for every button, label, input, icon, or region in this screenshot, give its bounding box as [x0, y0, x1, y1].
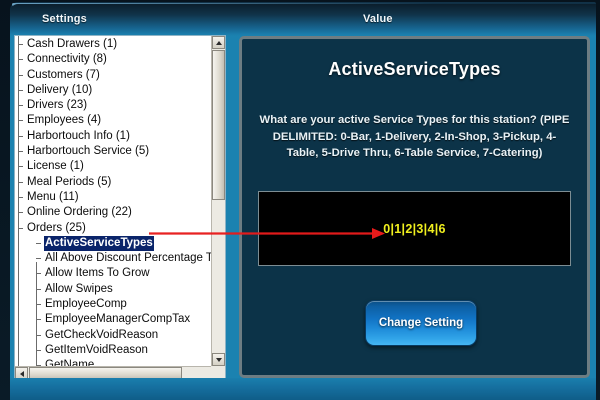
- tree-item[interactable]: Orders (25): [15, 221, 211, 236]
- tree-item-label: GetName: [44, 358, 95, 366]
- tree-connector-icon: [18, 105, 23, 106]
- tree-item-label: EmployeeManagerCompTax: [44, 312, 191, 327]
- tree-item-label: GetItemVoidReason: [44, 343, 149, 358]
- tree-item-label: Employees (4): [26, 113, 102, 128]
- scroll-down-button[interactable]: [212, 353, 225, 366]
- tree-item-label: Customers (7): [26, 68, 101, 83]
- tree-item[interactable]: Menu (11): [15, 190, 211, 205]
- tree-connector-icon: [18, 228, 23, 229]
- tree-item[interactable]: EmployeeManagerCompTax: [15, 312, 211, 327]
- tree-connector-icon: [18, 212, 23, 213]
- tree-item[interactable]: Harbortouch Info (1): [15, 129, 211, 144]
- tree-item-label: Meal Periods (5): [26, 175, 112, 190]
- tree-connector-icon: [36, 319, 41, 320]
- tree-connector-icon: [18, 136, 23, 137]
- tree-connector-icon: [18, 59, 23, 60]
- tree-item[interactable]: Connectivity (8): [15, 52, 211, 67]
- tree-item[interactable]: Drivers (23): [15, 98, 211, 113]
- tree-connector-icon: [36, 258, 41, 259]
- tree-item[interactable]: GetName: [15, 358, 211, 366]
- settings-column-header: Settings: [42, 13, 87, 25]
- tree-connector-icon: [36, 350, 41, 351]
- tree-item[interactable]: Customers (7): [15, 68, 211, 83]
- tree-vertical-scrollbar[interactable]: [211, 36, 225, 366]
- setting-value-display: 0|1|2|3|4|6: [258, 191, 571, 266]
- tree-item-label: Drivers (23): [26, 98, 88, 113]
- vertical-scrollbar-thumb[interactable]: [212, 50, 225, 200]
- setting-description: What are your active Service Types for t…: [257, 112, 572, 162]
- tree-connector-icon: [18, 151, 23, 152]
- settings-tree-panel[interactable]: Cash Drawers (1)Connectivity (8)Customer…: [14, 35, 226, 381]
- tree-item[interactable]: Delivery (10): [15, 83, 211, 98]
- tree-connector-icon: [18, 75, 23, 76]
- tree-item[interactable]: All Above Discount Percentage Tax: [15, 251, 211, 266]
- tree-item[interactable]: Harbortouch Service (5): [15, 144, 211, 159]
- tree-item-label: Allow Swipes: [44, 282, 114, 297]
- value-column-header: Value: [363, 13, 393, 25]
- setting-value-text: 0|1|2|3|4|6: [259, 192, 570, 265]
- tree-item[interactable]: Online Ordering (22): [15, 205, 211, 220]
- tree-item-label: Harbortouch Service (5): [26, 144, 150, 159]
- setting-detail-panel: ActiveServiceTypes What are your active …: [239, 36, 590, 378]
- tree-connector-icon: [18, 197, 23, 198]
- tree-item-selected[interactable]: ActiveServiceTypes: [15, 236, 211, 251]
- tree-item[interactable]: Allow Items To Grow: [15, 266, 211, 281]
- tree-item[interactable]: GetItemVoidReason: [15, 343, 211, 358]
- tree-item[interactable]: Meal Periods (5): [15, 175, 211, 190]
- setting-title: ActiveServiceTypes: [242, 59, 587, 80]
- tree-connector-icon: [18, 90, 23, 91]
- tree-connector-icon: [18, 44, 23, 45]
- tree-item-label: Orders (25): [26, 221, 87, 236]
- settings-tree-viewport: Cash Drawers (1)Connectivity (8)Customer…: [15, 36, 211, 366]
- tree-item-label: EmployeeComp: [44, 297, 128, 312]
- triangle-down-icon: [216, 358, 222, 362]
- tree-item[interactable]: Employees (4): [15, 113, 211, 128]
- tree-item-label: Connectivity (8): [26, 52, 108, 67]
- scroll-up-button[interactable]: [212, 36, 225, 49]
- window-footer: [10, 378, 596, 400]
- tree-item-label: Cash Drawers (1): [26, 37, 118, 52]
- tree-connector-icon: [18, 120, 23, 121]
- settings-tree-list: Cash Drawers (1)Connectivity (8)Customer…: [15, 37, 211, 366]
- tree-item[interactable]: License (1): [15, 159, 211, 174]
- change-setting-button-label: Change Setting: [366, 301, 476, 345]
- tree-item-label: Menu (11): [26, 190, 80, 205]
- column-header-bar: Settings Value: [10, 4, 596, 34]
- tree-item-label: License (1): [26, 159, 85, 174]
- tree-connector-icon: [36, 289, 41, 290]
- tree-item[interactable]: GetCheckVoidReason: [15, 328, 211, 343]
- tree-connector-icon: [36, 335, 41, 336]
- tree-item[interactable]: Cash Drawers (1): [15, 37, 211, 52]
- tree-item-label: All Above Discount Percentage Tax: [44, 251, 211, 266]
- tree-connector-icon: [18, 182, 23, 183]
- tree-connector-icon: [36, 273, 41, 274]
- tree-item[interactable]: Allow Swipes: [15, 282, 211, 297]
- tree-item-label: GetCheckVoidReason: [44, 328, 159, 343]
- triangle-up-icon: [216, 41, 222, 45]
- tree-item-label: Delivery (10): [26, 83, 93, 98]
- application-window: Settings Value Cash Drawers (1)Connectiv…: [0, 0, 600, 400]
- tree-item-label: ActiveServiceTypes: [44, 236, 154, 251]
- change-setting-button[interactable]: Change Setting: [365, 300, 477, 346]
- tree-connector-icon: [18, 166, 23, 167]
- tree-item-label: Harbortouch Info (1): [26, 129, 131, 144]
- triangle-left-icon: [20, 371, 24, 377]
- tree-item[interactable]: EmployeeComp: [15, 297, 211, 312]
- tree-connector-icon: [36, 304, 41, 305]
- tree-item-label: Online Ordering (22): [26, 205, 133, 220]
- tree-connector-icon: [36, 243, 41, 244]
- tree-item-label: Allow Items To Grow: [44, 266, 151, 281]
